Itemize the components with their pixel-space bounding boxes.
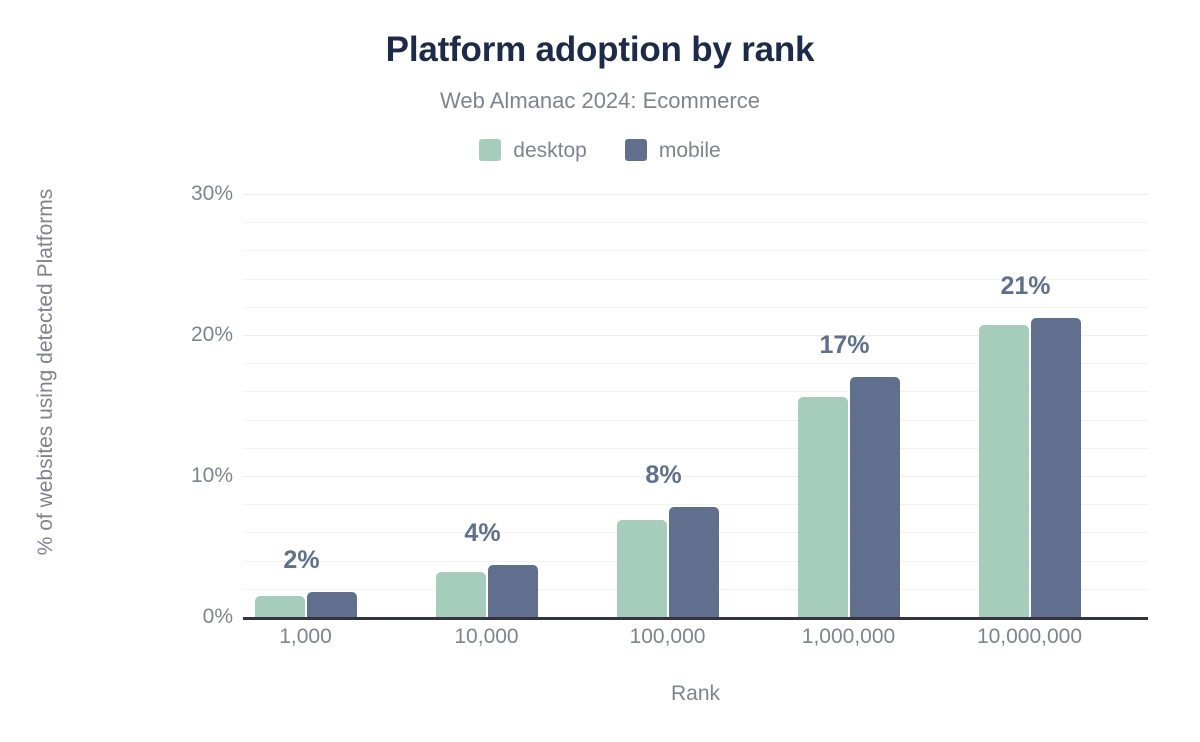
chart-legend: desktopmobile — [0, 139, 1200, 161]
bar-desktop[interactable] — [617, 520, 667, 617]
y-axis-title: % of websites using detected Platforms — [34, 162, 58, 582]
bar-value-label: 21% — [966, 272, 1086, 301]
bar-desktop[interactable] — [436, 572, 486, 617]
bar-desktop[interactable] — [255, 596, 305, 617]
bar-value-label: 8% — [604, 461, 724, 490]
y-axis-tick-label: 20% — [163, 323, 233, 347]
x-axis-tick-label: 10,000,000 — [920, 625, 1140, 649]
y-axis-tick-label: 30% — [163, 182, 233, 206]
chart-title: Platform adoption by rank — [0, 30, 1200, 70]
x-axis-title: Rank — [243, 682, 1148, 706]
legend-item-mobile[interactable]: mobile — [625, 139, 721, 161]
bar-value-label: 4% — [423, 519, 543, 548]
bar-group — [798, 194, 900, 617]
bar-group — [436, 194, 538, 617]
bar-desktop[interactable] — [979, 325, 1029, 617]
bar-mobile[interactable] — [1031, 318, 1081, 617]
legend-swatch-icon — [625, 139, 647, 161]
bar-group — [979, 194, 1081, 617]
bar-mobile[interactable] — [850, 377, 900, 617]
plot-area: 2%4%8%17%21% — [243, 194, 1148, 617]
bar-mobile[interactable] — [307, 592, 357, 617]
bar-desktop[interactable] — [798, 397, 848, 617]
legend-label: mobile — [659, 140, 721, 161]
chart-figure: Platform adoption by rank Web Almanac 20… — [0, 0, 1200, 742]
legend-label: desktop — [513, 140, 587, 161]
y-axis-tick-labels: 0%10%20%30% — [163, 194, 233, 617]
bar-mobile[interactable] — [669, 507, 719, 617]
bar-group — [617, 194, 719, 617]
chart-subtitle: Web Almanac 2024: Ecommerce — [0, 88, 1200, 114]
legend-swatch-icon — [479, 139, 501, 161]
x-axis-line — [243, 617, 1148, 620]
legend-item-desktop[interactable]: desktop — [479, 139, 587, 161]
bar-value-label: 17% — [785, 331, 905, 360]
bar-mobile[interactable] — [488, 565, 538, 617]
y-axis-tick-label: 10% — [163, 464, 233, 488]
bar-value-label: 2% — [242, 546, 362, 575]
